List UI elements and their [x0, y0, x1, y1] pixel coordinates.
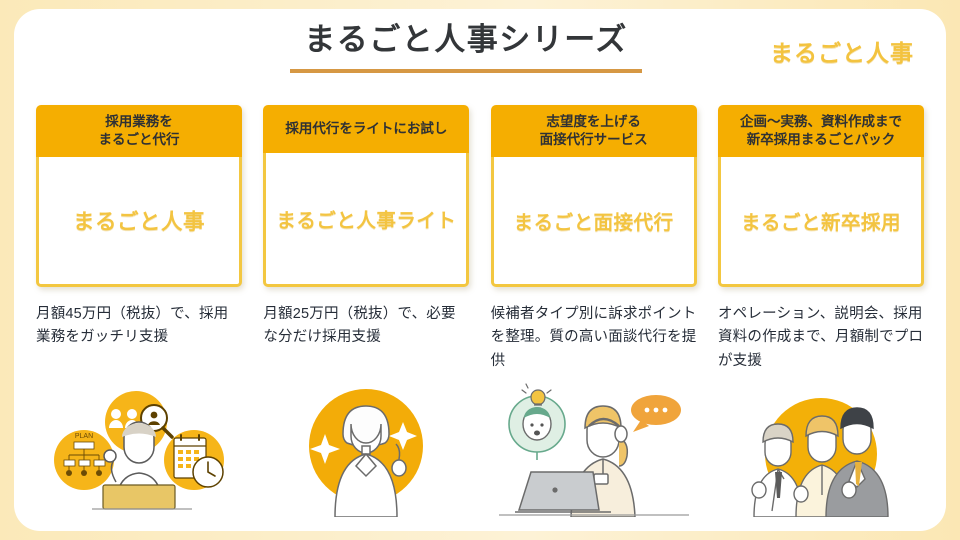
service-card-label: まるごと人事ライト [276, 204, 456, 233]
title-underline [290, 69, 642, 73]
service-description: 月額25万円（税抜）で、必要な分だけ採用支援 [263, 303, 469, 373]
illustration-row: PLAN [36, 382, 924, 517]
id-badge-icon [594, 474, 608, 484]
service-card-body: まるごと人事 [36, 157, 242, 287]
idea-bubble-icon [509, 384, 565, 460]
laptop-icon [103, 485, 175, 509]
service-card[interactable]: 志望度を上げる 面接代行サービス まるごと面接代行 [491, 105, 697, 287]
page-title: まるごと人事シリーズ [304, 22, 627, 64]
brand-logo: まるごと人事 [770, 34, 914, 68]
service-card[interactable]: 採用代行をライトにお試し まるごと人事ライト [263, 105, 469, 287]
service-description: 月額45万円（税抜）で、採用業務をガッチリ支援 [36, 303, 242, 373]
illustration-person-laptop: PLAN [36, 382, 242, 517]
service-card-header-line1: 採用代行をライトにお試し [285, 120, 447, 138]
service-description: 候補者タイプ別に訴求ポイントを整理。質の高い面談代行を提供 [491, 303, 697, 373]
service-card-body: まるごと新卒採用 [718, 157, 924, 287]
service-card-header: 志望度を上げる 面接代行サービス [491, 105, 697, 157]
service-card[interactable]: 採用業務を まるごと代行 まるごと人事 [36, 105, 242, 287]
service-card-body: まるごと面接代行 [491, 157, 697, 287]
service-card-row: 採用業務を まるごと代行 まるごと人事 採用代行をライトにお試し まるごと人事ラ… [36, 105, 924, 287]
service-card-header: 採用代行をライトにお試し [263, 105, 469, 153]
svg-text:PLAN: PLAN [75, 433, 93, 440]
service-card-header-line2: 新卒採用まるごとパック [740, 131, 902, 149]
service-card-body: まるごと人事ライト [263, 153, 469, 287]
service-card-header: 採用業務を まるごと代行 [36, 105, 242, 157]
service-description: オペレーション、説明会、採用資料の作成まで、月額制でプロが支援 [718, 303, 924, 373]
description-row: 月額45万円（税抜）で、採用業務をガッチリ支援 月額25万円（税抜）で、必要な分… [36, 303, 924, 373]
service-card-header-line1: 志望度を上げる [540, 113, 648, 131]
slide-root: まるごと人事シリーズ まるごと人事 採用業務を まるごと代行 まるごと人事 採用… [0, 0, 960, 540]
headset-icon [615, 426, 627, 442]
service-card-label: まるごと新卒採用 [741, 206, 901, 235]
service-card-header-line1: 採用業務を [99, 113, 180, 131]
speech-bubble-icon [631, 395, 681, 432]
service-card-header: 企画〜実務、資料作成まで 新卒採用まるごとパック [718, 105, 924, 157]
illustration-headset-agent [491, 382, 697, 517]
candidate-face-icon [523, 407, 551, 440]
illustration-new-graduates [718, 382, 924, 517]
service-card-label: まるごと面接代行 [514, 206, 674, 235]
service-card-label: まるごと人事 [73, 205, 205, 236]
schedule-bubble-icon [164, 430, 224, 490]
service-card-header-line2: 面接代行サービス [540, 131, 648, 149]
slide-header: まるごと人事シリーズ まるごと人事 [0, 14, 932, 84]
service-card-header-line1: 企画〜実務、資料作成まで [740, 113, 902, 131]
illustration-woman-sparkles [263, 382, 469, 517]
service-card-header-line2: まるごと代行 [99, 131, 180, 149]
service-card[interactable]: 企画〜実務、資料作成まで 新卒採用まるごとパック まるごと新卒採用 [718, 105, 924, 287]
